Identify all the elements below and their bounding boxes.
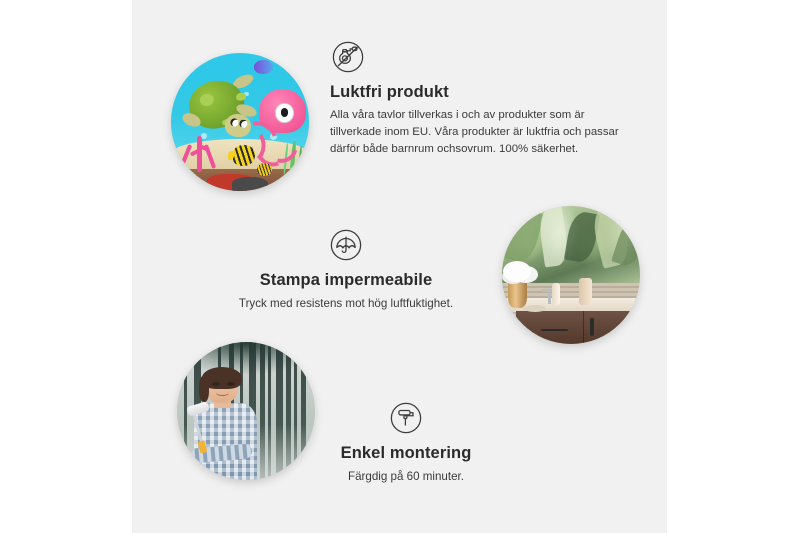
no-odour-spray-bottle-icon (331, 40, 365, 74)
underwater-scene (171, 53, 309, 191)
feature-title: Enkel montering (300, 444, 512, 464)
tumbler (579, 278, 591, 306)
pink-coral-icon (179, 130, 220, 171)
octopus-eye (275, 103, 294, 123)
feature-block-easy-mounting: Enkel montering Färgdig på 60 minuter. (300, 401, 512, 485)
bathroom-scene (502, 206, 640, 344)
umbrella-icon (329, 228, 363, 262)
vase (508, 278, 527, 308)
feature-block-waterproof: Stampa impermeabile Tryck med resistens … (222, 228, 470, 312)
blue-fish-icon (254, 60, 273, 74)
feature-photo-bathroom-tropical-leaf-wallpaper (502, 206, 640, 344)
white-flowers (503, 261, 531, 282)
feature-photo-woman-with-paint-roller-forest-mural (177, 342, 315, 480)
paint-roller-icon (389, 401, 423, 435)
drawer-handle (541, 329, 568, 330)
leaf-shape (504, 207, 543, 264)
feature-description: Tryck med resistens mot hög luftfuktighe… (222, 295, 470, 313)
soap-dispenser (552, 283, 560, 305)
wooden-vanity-cabinet (516, 311, 640, 344)
woman-smile (216, 389, 230, 396)
forest-canopy (177, 342, 315, 389)
faucet-icon (548, 289, 551, 304)
woman-eye (212, 382, 220, 386)
feature-photo-underwater-sea-life-kids-mural (171, 53, 309, 191)
forest-scene (177, 342, 315, 480)
feature-title: Stampa impermeabile (222, 271, 470, 291)
feature-description: Färgdig på 60 minuter. (300, 468, 512, 486)
feature-block-odour-free: Luktfri produkt Alla våra tavlor tillver… (330, 40, 626, 159)
promo-banner: Luktfri produkt Alla våra tavlor tillver… (0, 0, 800, 533)
feature-description: Alla våra tavlor tillverkas i och av pro… (330, 107, 626, 159)
cabinet-handle (590, 318, 594, 337)
cabinet-handle (628, 318, 632, 337)
dark-rock (232, 177, 268, 191)
feature-title: Luktfri produkt (330, 83, 626, 103)
woman-hair (202, 367, 242, 389)
cabinet-seam (583, 311, 584, 344)
small-fish-icon (257, 163, 272, 175)
